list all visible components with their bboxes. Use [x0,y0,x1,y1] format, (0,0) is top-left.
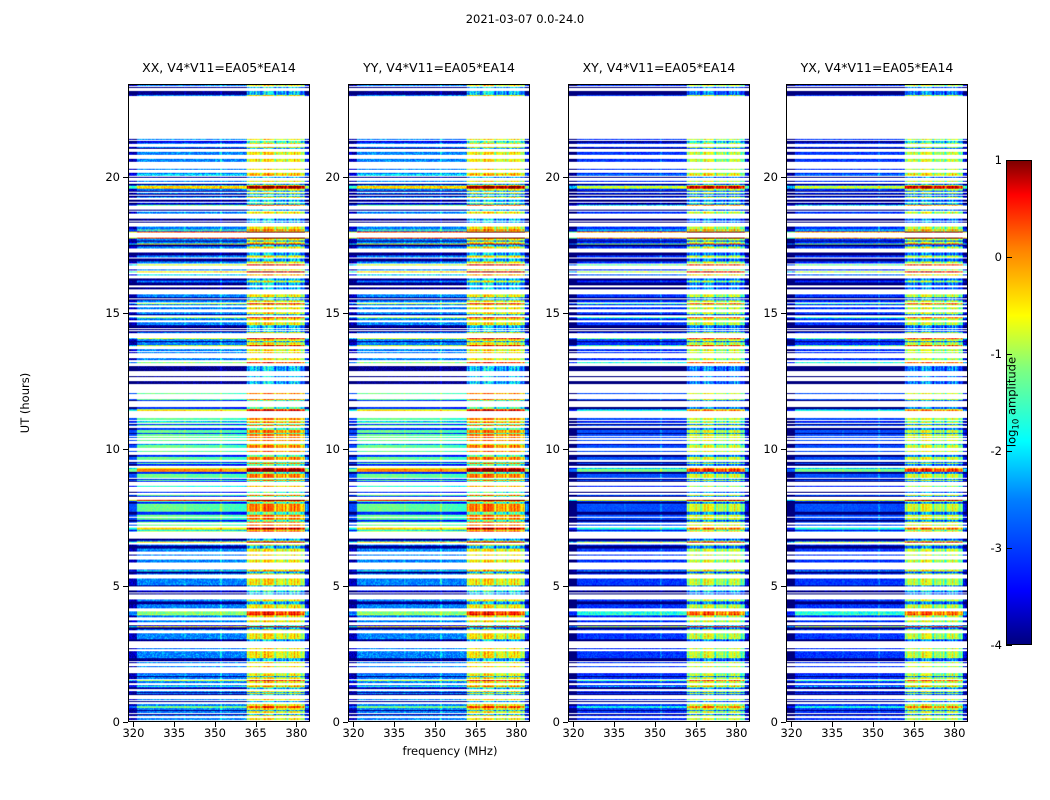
panel-xy[interactable] [568,84,750,722]
x-tick-label: 365 [903,726,925,740]
y-tick-label: 0 [314,715,340,729]
colorbar-tick-mark [1006,451,1012,452]
y-tick-mark [123,313,128,314]
x-tick-label: 380 [943,726,965,740]
x-tick-label: 350 [424,726,446,740]
y-tick-mark [563,313,568,314]
y-tick-label: 5 [314,579,340,593]
y-tick-label: 15 [752,306,778,320]
y-tick-mark [781,586,786,587]
x-tick-label: 380 [505,726,527,740]
y-tick-label: 10 [752,442,778,456]
x-tick-label: 335 [603,726,625,740]
y-tick-mark [781,449,786,450]
y-tick-mark [343,722,348,723]
y-tick-mark [781,722,786,723]
y-tick-mark [563,722,568,723]
x-tick-label: 380 [725,726,747,740]
y-tick-mark [123,722,128,723]
colorbar-tick-mark [1006,160,1012,161]
y-tick-label: 20 [534,170,560,184]
x-tick-label: 365 [245,726,267,740]
panel-yx[interactable] [786,84,968,722]
y-tick-mark [781,313,786,314]
y-tick-mark [123,449,128,450]
y-tick-mark [563,586,568,587]
colorbar-tick-mark [1006,548,1012,549]
y-tick-label: 15 [314,306,340,320]
x-tick-label: 350 [204,726,226,740]
y-tick-label: 5 [752,579,778,593]
colorbar-tick-mark [1006,645,1012,646]
colorbar-tick-label: 1 [982,153,1002,167]
x-tick-label: 365 [465,726,487,740]
colorbar-tick-mark [1006,354,1012,355]
y-tick-mark [781,177,786,178]
y-tick-label: 20 [752,170,778,184]
spectrogram-xx [129,85,309,721]
spectrogram-xy [569,85,749,721]
x-tick-label: 335 [163,726,185,740]
y-tick-label: 20 [314,170,340,184]
colorbar-tick-label: -3 [982,541,1002,555]
y-axis-label: UT (hours) [18,373,32,433]
panel-title-yx: YX, V4*V11=EA05*EA14 [786,60,968,75]
y-tick-label: 5 [534,579,560,593]
colorbar-tick-label: -4 [982,638,1002,652]
y-tick-label: 10 [314,442,340,456]
panel-title-xy: XY, V4*V11=EA05*EA14 [568,60,750,75]
panel-xx[interactable] [128,84,310,722]
y-tick-mark [123,177,128,178]
y-tick-label: 20 [94,170,120,184]
panel-yy[interactable] [348,84,530,722]
y-tick-mark [343,586,348,587]
y-tick-label: 5 [94,579,120,593]
figure-canvas: 2021-03-07 0.0-24.0 XX, V4*V11=EA05*EA14… [0,0,1050,800]
colorbar-tick-label: 0 [982,250,1002,264]
y-tick-mark [563,449,568,450]
y-tick-mark [343,313,348,314]
x-tick-label: 335 [383,726,405,740]
panel-title-yy: YY, V4*V11=EA05*EA14 [348,60,530,75]
y-tick-label: 15 [94,306,120,320]
y-tick-mark [123,586,128,587]
y-tick-mark [343,177,348,178]
x-tick-label: 350 [644,726,666,740]
x-tick-label: 380 [285,726,307,740]
panel-title-xx: XX, V4*V11=EA05*EA14 [128,60,310,75]
spectrogram-yx [787,85,967,721]
x-tick-label: 320 [342,726,364,740]
y-tick-label: 0 [94,715,120,729]
colorbar-tick-label: -1 [982,347,1002,361]
y-tick-mark [343,449,348,450]
x-axis-label: frequency (MHz) [0,744,900,758]
colorbar-tick-mark [1006,257,1012,258]
spectrogram-yy [349,85,529,721]
x-tick-label: 365 [685,726,707,740]
y-tick-label: 0 [752,715,778,729]
x-tick-label: 335 [821,726,843,740]
y-tick-label: 0 [534,715,560,729]
colorbar-tick-label: -2 [982,444,1002,458]
y-tick-label: 10 [94,442,120,456]
colorbar-label: log10 amplitude [1004,357,1021,447]
x-tick-label: 320 [122,726,144,740]
figure-suptitle: 2021-03-07 0.0-24.0 [0,12,1050,26]
y-tick-mark [563,177,568,178]
x-tick-label: 320 [780,726,802,740]
y-tick-label: 10 [534,442,560,456]
x-tick-label: 350 [862,726,884,740]
y-tick-label: 15 [534,306,560,320]
x-tick-label: 320 [562,726,584,740]
